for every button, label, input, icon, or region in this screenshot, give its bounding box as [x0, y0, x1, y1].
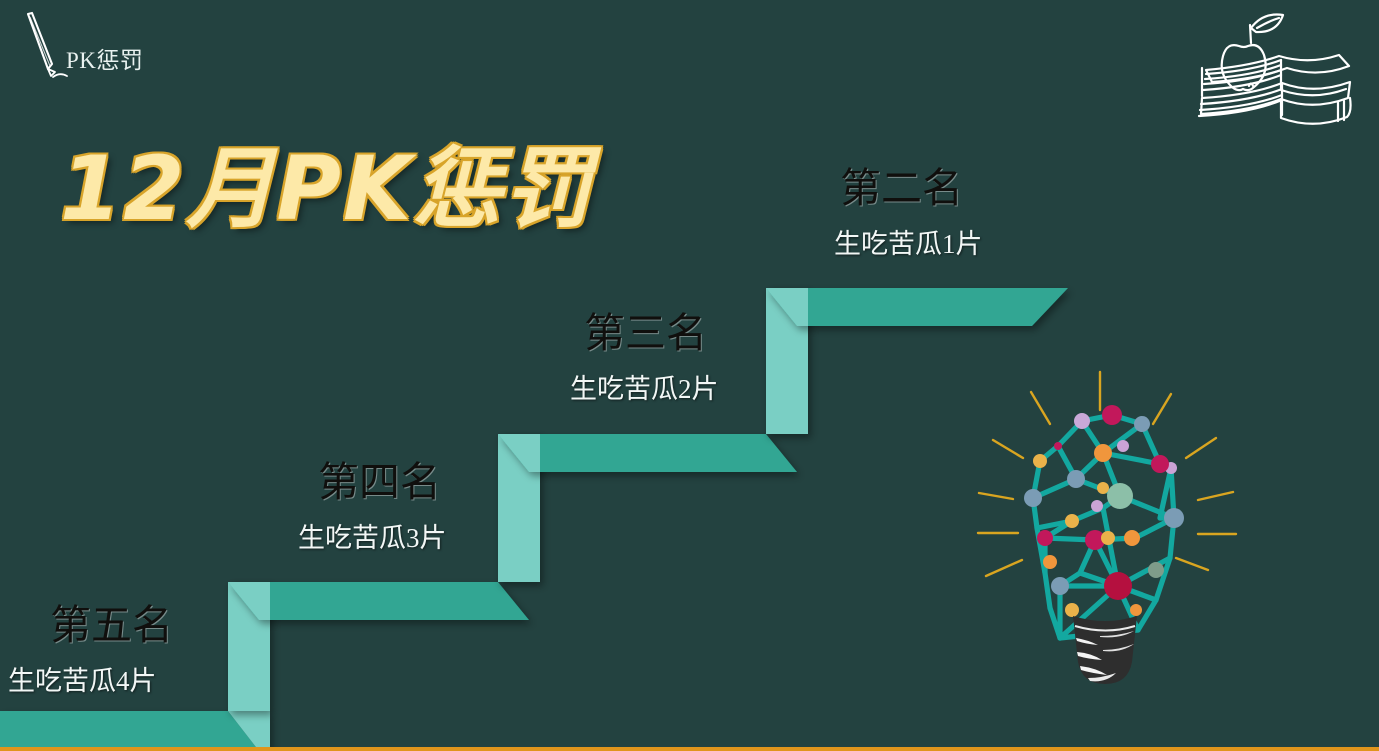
rank-title-5: 第五名 — [50, 605, 173, 646]
step-label-rank-5: 第五名 生吃苦瓜4片 — [50, 605, 173, 695]
step-4-shape — [228, 582, 529, 620]
rank-title-4: 第四名 — [318, 462, 447, 503]
step-3-shape — [498, 434, 797, 472]
step-label-rank-3: 第三名 生吃苦瓜2片 — [584, 313, 719, 403]
penalty-text-3: 生吃苦瓜2片 — [570, 376, 719, 403]
rank-title-3: 第三名 — [584, 313, 719, 354]
step-5-shape — [0, 711, 270, 751]
pencil-icon — [18, 8, 70, 86]
step-2-shape — [766, 288, 1068, 326]
books-apple-icon — [1171, 0, 1371, 144]
lightbulb-network-icon — [960, 358, 1260, 698]
bottom-accent-rule — [0, 747, 1379, 751]
slide-canvas: PK惩罚 — [0, 0, 1379, 751]
rank-title-2: 第二名 — [840, 168, 983, 209]
step-label-rank-4: 第四名 生吃苦瓜3片 — [318, 462, 447, 552]
header-chip: PK惩罚 — [18, 8, 143, 86]
step-label-rank-2: 第二名 生吃苦瓜1片 — [840, 168, 983, 258]
header-label: PK惩罚 — [66, 41, 143, 75]
bulb-rays — [978, 372, 1236, 576]
penalty-text-4: 生吃苦瓜3片 — [298, 525, 447, 552]
penalty-text-5: 生吃苦瓜4片 — [8, 668, 173, 695]
bulb-base — [1073, 616, 1137, 684]
penalty-text-2: 生吃苦瓜1片 — [834, 231, 983, 258]
page-title: 12月PK惩罚 — [60, 143, 593, 235]
